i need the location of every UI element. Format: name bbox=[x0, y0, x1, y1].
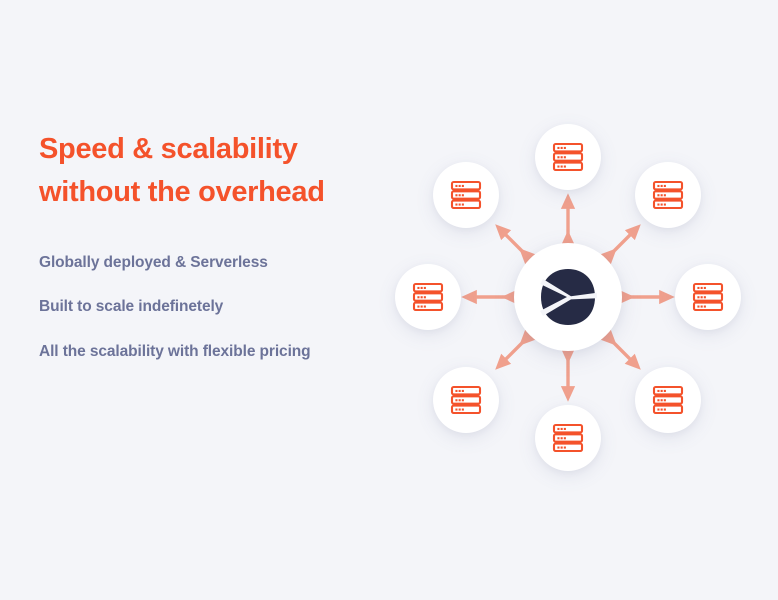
server-icon bbox=[651, 383, 685, 417]
server-node-top[interactable] bbox=[535, 124, 601, 190]
server-node-bottom[interactable] bbox=[535, 405, 601, 471]
list-item: All the scalability with flexible pricin… bbox=[39, 341, 314, 363]
network-diagram bbox=[380, 95, 760, 495]
server-node-bottom-right[interactable] bbox=[635, 367, 701, 433]
server-icon bbox=[449, 383, 483, 417]
server-icon bbox=[651, 178, 685, 212]
hub-node[interactable] bbox=[514, 243, 622, 351]
list-item: Globally deployed & Serverless bbox=[39, 252, 314, 274]
arrow-bottom-right bbox=[612, 341, 636, 365]
arrow-top-right bbox=[612, 229, 636, 253]
server-icon bbox=[691, 280, 725, 314]
server-icon bbox=[551, 140, 585, 174]
server-icon bbox=[551, 421, 585, 455]
server-icon bbox=[449, 178, 483, 212]
server-node-bottom-left[interactable] bbox=[433, 367, 499, 433]
server-node-top-right[interactable] bbox=[635, 162, 701, 228]
page-title: Speed & scalability without the overhead bbox=[39, 128, 329, 214]
server-node-right[interactable] bbox=[675, 264, 741, 330]
server-node-top-left[interactable] bbox=[433, 162, 499, 228]
feature-list: Globally deployed & Serverless Built to … bbox=[39, 252, 369, 363]
server-icon bbox=[411, 280, 445, 314]
server-node-left[interactable] bbox=[395, 264, 461, 330]
arrow-top-left bbox=[500, 229, 524, 253]
arrow-bottom-left bbox=[500, 341, 524, 365]
brand-logo-icon bbox=[537, 266, 599, 328]
list-item: Built to scale indefinetely bbox=[39, 296, 314, 318]
copy-block: Speed & scalability without the overhead… bbox=[39, 128, 369, 363]
